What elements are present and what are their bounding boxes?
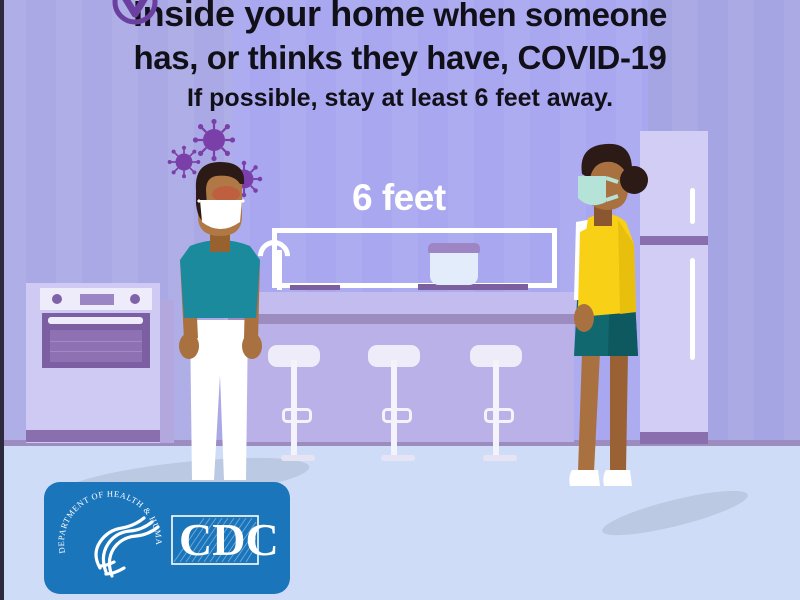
woman-leg-back — [610, 352, 628, 472]
oven-knob-left[interactable] — [52, 294, 62, 304]
bar-stool-base-3 — [483, 455, 517, 461]
bar-stool-base-2 — [381, 455, 415, 461]
cooking-pot-body — [430, 250, 478, 285]
svg-text:DEPARTMENT OF HEALTH & HUMAN S: DEPARTMENT OF HEALTH & HUMAN SERVICES·US… — [44, 482, 164, 554]
shelf-accent-bar — [290, 285, 340, 290]
oven-window — [50, 330, 142, 362]
refrigerator-handle-upper[interactable] — [690, 188, 695, 224]
cdc-logo[interactable]: DEPARTMENT OF HEALTH & HUMAN SERVICES·US… — [44, 482, 290, 594]
distance-label: 6 feet — [352, 177, 446, 219]
subheadline: If possible, stay at least 6 feet away. — [0, 84, 800, 113]
bar-stool-footrest-2 — [382, 408, 412, 423]
woman-hair-bun — [620, 166, 648, 194]
oven-base — [26, 430, 160, 442]
headline-line-2: has, or thinks they have, COVID-19 — [0, 36, 800, 79]
oven-knob-right[interactable] — [130, 294, 140, 304]
oven-door-handle[interactable] — [48, 317, 143, 324]
headline-line-1-rest: when someone — [425, 0, 667, 33]
man-hand-right — [242, 333, 262, 359]
hhs-bird-icon — [96, 518, 158, 576]
shelf-rail-top — [272, 228, 557, 233]
oven-window-line-1 — [50, 341, 142, 342]
woman-shoe-back — [603, 470, 632, 486]
cdc-wordmark: CDC — [179, 514, 279, 565]
person-caregiver-right — [548, 140, 668, 530]
woman-sleeve — [578, 226, 594, 308]
hhs-seal-text: DEPARTMENT OF HEALTH & HUMAN SERVICES·US… — [44, 482, 164, 554]
covid-infographic-poster: 6 feet — [0, 0, 800, 600]
oven-display — [80, 294, 114, 305]
woman-shoe-front — [569, 470, 600, 486]
cooking-pot-lid — [428, 243, 480, 253]
headline-emphasis: Inside your home — [133, 0, 425, 34]
oven-window-line-2 — [50, 351, 142, 352]
person-sick-left — [150, 160, 290, 500]
man-flushed-cheek — [212, 186, 240, 202]
shelf-pot-pad — [418, 284, 528, 290]
bar-stool-footrest-3 — [484, 408, 514, 423]
woman-face-mask — [578, 176, 606, 205]
man-hand-left — [179, 333, 199, 359]
checkmark-icon — [111, 0, 159, 26]
left-edge-border — [0, 0, 4, 600]
woman-leg-front — [578, 352, 600, 472]
man-face-mask — [200, 200, 242, 229]
refrigerator-handle-lower[interactable] — [690, 258, 695, 360]
woman-cardigan-shade — [618, 220, 636, 314]
woman-hand — [574, 304, 594, 332]
